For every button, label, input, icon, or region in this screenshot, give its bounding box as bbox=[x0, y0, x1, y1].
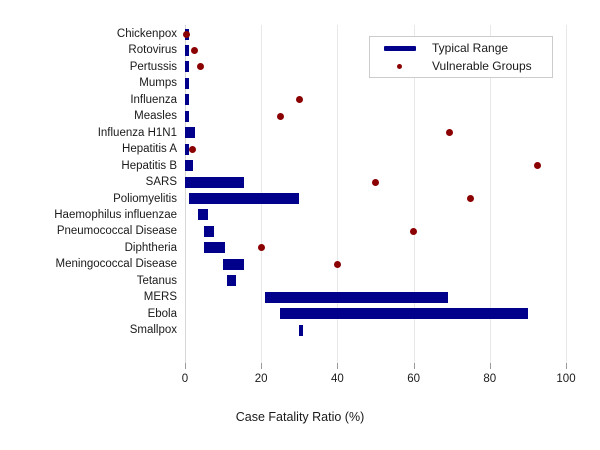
x-axis-tick bbox=[185, 363, 186, 369]
range-bar bbox=[185, 177, 244, 188]
vulnerable-group-dot bbox=[296, 96, 303, 103]
vulnerable-group-dot bbox=[183, 31, 190, 38]
x-axis-tick-label: 60 bbox=[407, 373, 420, 385]
vulnerable-group-dot bbox=[534, 162, 541, 169]
y-axis-tick-label: Diphtheria bbox=[0, 242, 177, 254]
y-axis-tick-label: Tetanus bbox=[0, 275, 177, 287]
range-bar bbox=[185, 111, 189, 122]
y-axis-tick-label: Hepatitis B bbox=[0, 160, 177, 172]
range-bar bbox=[280, 308, 528, 319]
x-axis-tick-label: 80 bbox=[483, 373, 496, 385]
x-axis-tick bbox=[261, 363, 262, 369]
vulnerable-group-dot bbox=[189, 146, 196, 153]
legend-item-typical-range: Typical Range bbox=[370, 39, 552, 58]
y-axis-tick-label: Pertussis bbox=[0, 61, 177, 73]
y-axis-labels: ChickenpoxRotovirusPertussisMumpsInfluen… bbox=[0, 25, 177, 363]
range-bar bbox=[185, 160, 193, 171]
y-axis-tick-label: Hepatitis A bbox=[0, 143, 177, 155]
x-axis-tick-label: 20 bbox=[255, 373, 268, 385]
gridline-100 bbox=[566, 25, 567, 363]
legend-line-swatch-icon bbox=[384, 46, 416, 51]
y-axis-tick-label: Pneumococcal Disease bbox=[0, 225, 177, 237]
vulnerable-group-dot bbox=[191, 47, 198, 54]
vulnerable-group-dot bbox=[410, 228, 417, 235]
range-bar bbox=[185, 94, 189, 105]
x-axis-tick bbox=[490, 363, 491, 369]
y-axis-tick-label: Chickenpox bbox=[0, 28, 177, 40]
y-axis-tick-label: Measles bbox=[0, 110, 177, 122]
range-bar bbox=[189, 193, 299, 204]
range-bar bbox=[185, 78, 189, 89]
x-axis-tick-label: 100 bbox=[556, 373, 575, 385]
y-axis-tick-label: Ebola bbox=[0, 308, 177, 320]
x-axis-title: Case Fatality Ratio (%) bbox=[0, 410, 600, 424]
y-axis-tick-label: Poliomyelitis bbox=[0, 193, 177, 205]
vulnerable-group-dot bbox=[467, 195, 474, 202]
range-bar bbox=[299, 325, 303, 336]
x-axis-tick bbox=[566, 363, 567, 369]
gridline-0 bbox=[185, 25, 186, 363]
x-axis-tick-label: 0 bbox=[182, 373, 188, 385]
y-axis-tick-label: Influenza bbox=[0, 94, 177, 106]
x-axis-tick bbox=[414, 363, 415, 369]
y-axis-tick-label: Rotovirus bbox=[0, 44, 177, 56]
range-bar bbox=[185, 127, 195, 138]
range-bar bbox=[227, 275, 237, 286]
x-axis-tick-label: 40 bbox=[331, 373, 344, 385]
vulnerable-group-dot bbox=[277, 113, 284, 120]
chart-figure: ChickenpoxRotovirusPertussisMumpsInfluen… bbox=[0, 0, 600, 450]
y-axis-tick-label: Influenza H1N1 bbox=[0, 127, 177, 139]
range-bar bbox=[185, 61, 189, 72]
y-axis-tick-label: MERS bbox=[0, 291, 177, 303]
legend-label-typical-range: Typical Range bbox=[432, 41, 508, 55]
vulnerable-group-dot bbox=[446, 129, 453, 136]
range-bar bbox=[265, 292, 448, 303]
legend-item-vulnerable-groups: Vulnerable Groups bbox=[370, 57, 552, 76]
x-axis-tick bbox=[337, 363, 338, 369]
y-axis-tick-label: Meningococcal Disease bbox=[0, 258, 177, 270]
vulnerable-group-dot bbox=[334, 261, 341, 268]
range-bar bbox=[204, 226, 214, 237]
range-bar bbox=[185, 45, 189, 56]
range-bar bbox=[204, 242, 225, 253]
vulnerable-group-dot bbox=[258, 244, 265, 251]
legend-label-vulnerable-groups: Vulnerable Groups bbox=[432, 59, 532, 73]
chart-legend: Typical Range Vulnerable Groups bbox=[369, 36, 553, 78]
legend-dot-swatch-icon bbox=[397, 64, 402, 69]
y-axis-tick-label: Smallpox bbox=[0, 324, 177, 336]
y-axis-tick-label: SARS bbox=[0, 176, 177, 188]
x-axis: 020406080100 bbox=[185, 363, 566, 403]
range-bar bbox=[198, 209, 208, 220]
vulnerable-group-dot bbox=[372, 179, 379, 186]
y-axis-tick-label: Mumps bbox=[0, 77, 177, 89]
range-bar bbox=[223, 259, 244, 270]
y-axis-tick-label: Haemophilus influenzae bbox=[0, 209, 177, 221]
vulnerable-group-dot bbox=[197, 63, 204, 70]
